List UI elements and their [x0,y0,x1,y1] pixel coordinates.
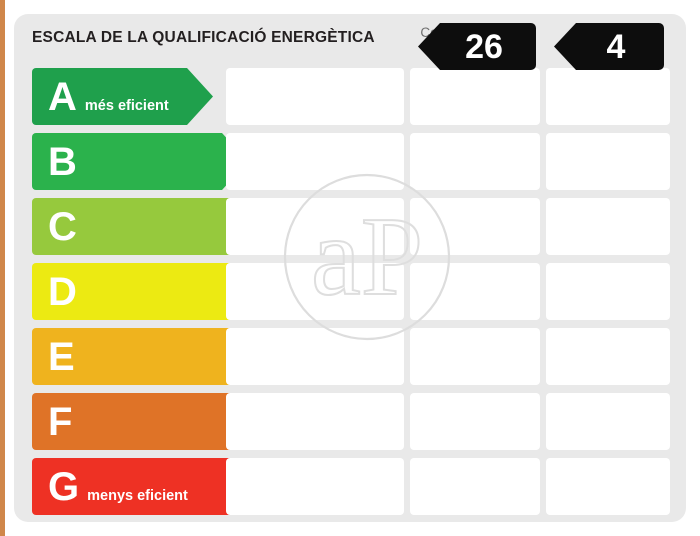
energy-label-screenshot: aP ESCALA DE LA QUALIFICACIÓ ENERGÈTICA … [0,0,700,536]
energy-value-badge: 26 [418,23,536,70]
rating-letter: E [48,337,74,377]
energy-rating-panel: aP ESCALA DE LA QUALIFICACIÓ ENERGÈTICA … [14,14,686,522]
band-text: Gmenys eficient [32,467,188,507]
rating-rows: Amés eficientBCDEFGmenys eficient [14,64,686,522]
emissions-value: 4 [593,30,626,64]
band-text: F [32,402,71,442]
value-cell-blank-d [226,263,404,320]
band-text: D [32,272,76,312]
value-cell-blank-c [226,198,404,255]
value-cell-energy-f [410,393,540,450]
value-cell-energy-a [410,68,540,125]
value-cell-energy-d [410,263,540,320]
band-text: C [32,207,76,247]
rating-row-e: E [14,324,686,389]
rating-letter: D [48,272,76,312]
value-cell-emissions-c [546,198,670,255]
left-edge-strip [0,0,5,536]
rating-letter: B [48,142,76,182]
emissions-value-badge: 4 [554,23,664,70]
value-cell-blank-a [226,68,404,125]
band-text: B [32,142,76,182]
rating-row-b: B [14,129,686,194]
value-cell-emissions-f [546,393,670,450]
value-cell-energy-b [410,133,540,190]
value-cell-emissions-b [546,133,670,190]
band-text: Amés eficient [32,77,169,117]
value-cell-emissions-a [546,68,670,125]
value-cell-energy-e [410,328,540,385]
value-cell-energy-g [410,458,540,515]
band-text: E [32,337,74,377]
value-cell-energy-c [410,198,540,255]
rating-row-g: Gmenys eficient [14,454,686,519]
value-cell-blank-f [226,393,404,450]
efficiency-note: més eficient [85,98,169,114]
rating-letter: G [48,467,78,507]
rating-band-b: B [32,133,248,190]
rating-row-d: D [14,259,686,324]
rating-row-c: C [14,194,686,259]
value-cell-emissions-d [546,263,670,320]
rating-row-a: Amés eficient [14,64,686,129]
value-cell-emissions-g [546,458,670,515]
rating-row-f: F [14,389,686,454]
efficiency-note: menys eficient [87,488,188,504]
rating-letter: F [48,402,71,442]
rating-letter: C [48,207,76,247]
value-cell-emissions-e [546,328,670,385]
value-cell-blank-b [226,133,404,190]
value-cell-blank-g [226,458,404,515]
rating-letter: A [48,77,76,117]
energy-value: 26 [451,30,503,64]
page-title: ESCALA DE LA QUALIFICACIÓ ENERGÈTICA [32,29,375,47]
value-cell-blank-e [226,328,404,385]
rating-band-a: Amés eficient [32,68,213,125]
